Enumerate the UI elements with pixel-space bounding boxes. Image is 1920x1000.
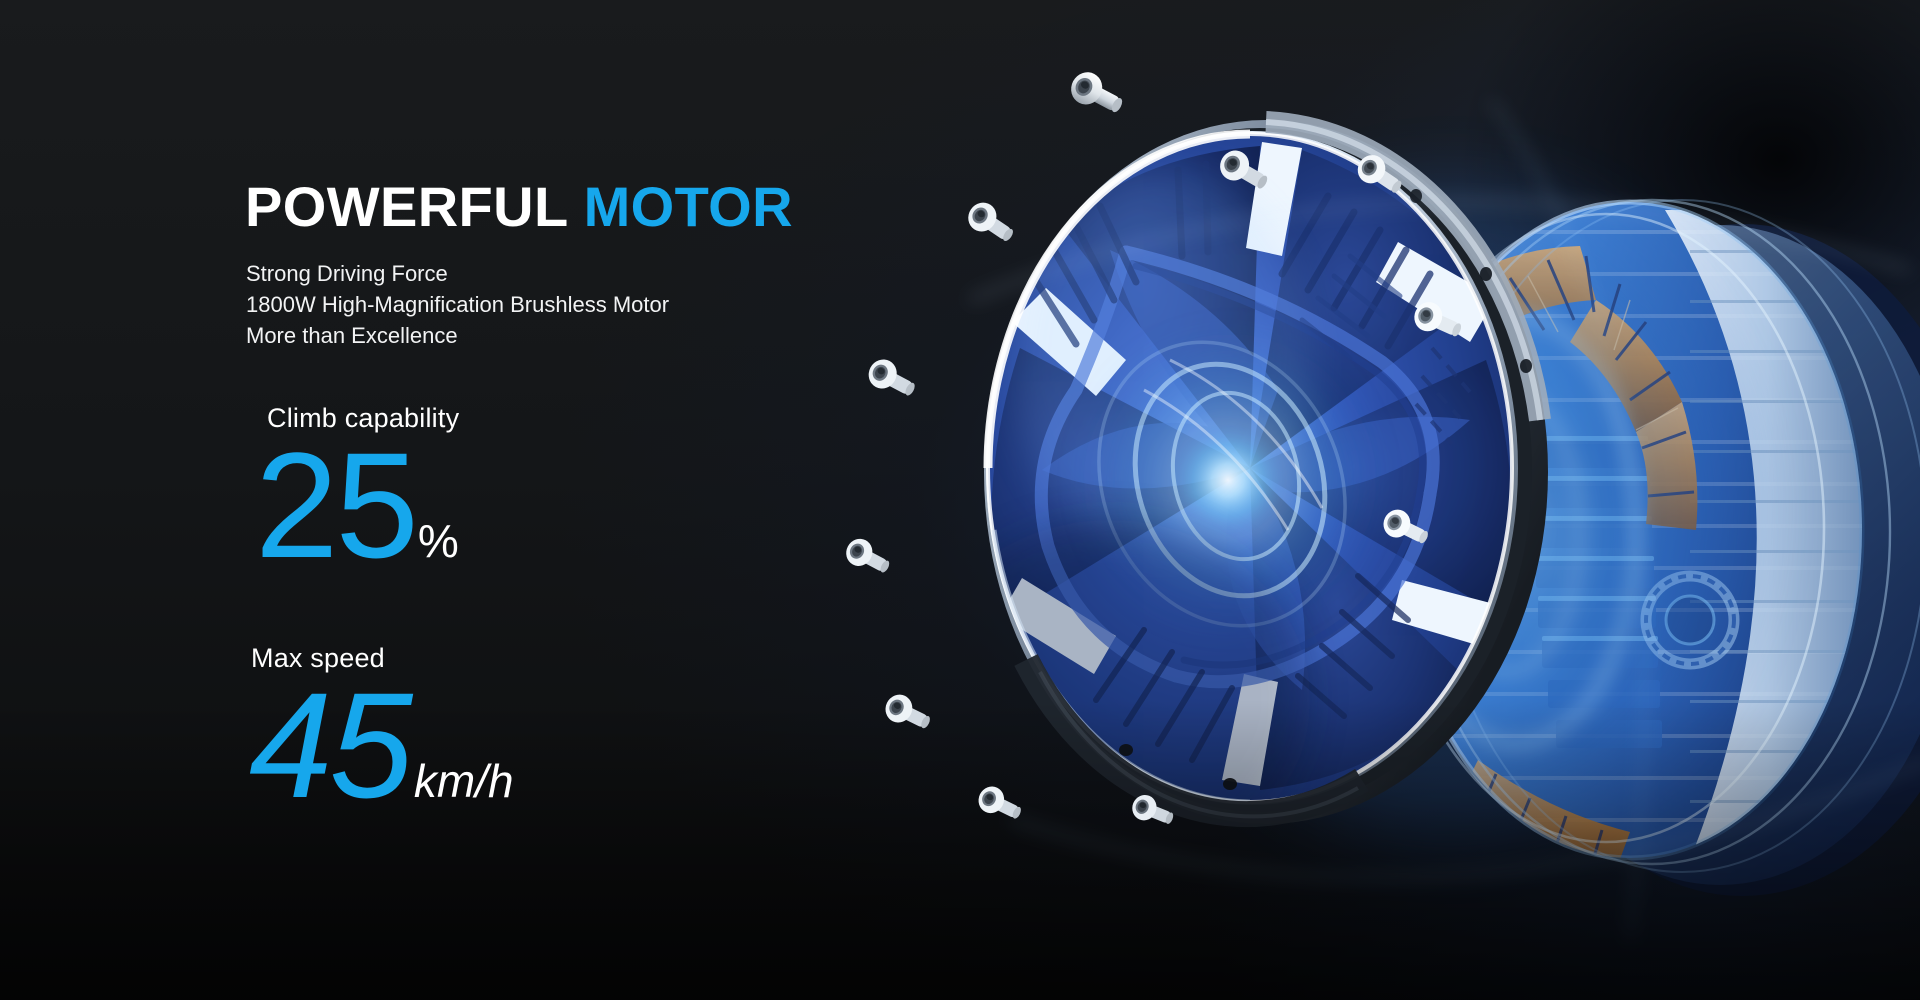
stat-value: 45 bbox=[249, 674, 410, 817]
subtitle-line-3: More than Excellence bbox=[246, 320, 669, 351]
product-banner: POWERFUL MOTOR Strong Driving Force 1800… bbox=[0, 0, 1920, 1000]
stat-climb-capability: Climb capability 25 % bbox=[267, 403, 459, 577]
stat-max-speed: Max speed 45 km/h bbox=[253, 643, 514, 817]
stat-unit: km/h bbox=[414, 760, 514, 804]
stat-value-row: 25 % bbox=[267, 434, 459, 577]
subtitle-line-1: Strong Driving Force bbox=[246, 258, 669, 289]
page-title: POWERFUL MOTOR bbox=[245, 179, 793, 235]
subtitle-block: Strong Driving Force 1800W High-Magnific… bbox=[246, 258, 669, 351]
title-word-motor: MOTOR bbox=[584, 175, 793, 238]
stat-unit: % bbox=[418, 520, 459, 564]
title-word-powerful: POWERFUL bbox=[245, 175, 568, 238]
subtitle-line-2: 1800W High-Magnification Brushless Motor bbox=[246, 289, 669, 320]
stat-value-row: 45 km/h bbox=[253, 674, 514, 817]
stat-value: 25 bbox=[255, 434, 416, 577]
